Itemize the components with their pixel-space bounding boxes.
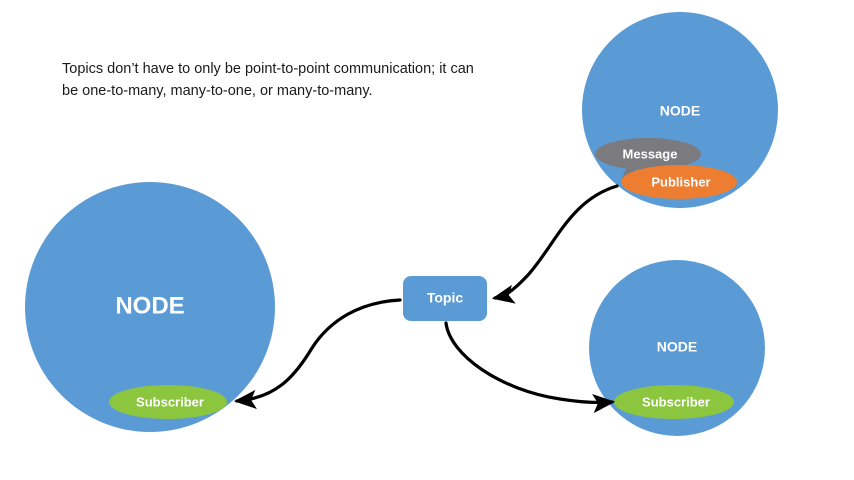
arrow-topic-to-subscriber-bottom-right [446,323,612,403]
diagram-canvas: Topics don’t have to only be point-to-po… [0,0,854,480]
topic-box-group[interactable]: Topic [403,276,487,321]
node-label-bottom-right: NODE [657,339,697,355]
subscriber-bottom-right-group[interactable]: Subscriber [614,385,734,419]
publisher-label: Publisher [651,174,710,189]
subscriber-left-group[interactable]: Subscriber [109,385,227,419]
subscriber-left-label: Subscriber [136,394,204,409]
subscriber-bottom-right-label: Subscriber [642,394,710,409]
arrow-publisher-to-topic [495,186,617,298]
topic-label: Topic [427,290,464,306]
message-label: Message [623,146,678,161]
node-label-left: NODE [115,292,184,319]
diagram-svg: NODE NODE NODE Message Publisher Subscri… [0,0,854,480]
publisher-group[interactable]: Publisher [621,165,737,199]
node-label-top-right: NODE [660,103,700,119]
